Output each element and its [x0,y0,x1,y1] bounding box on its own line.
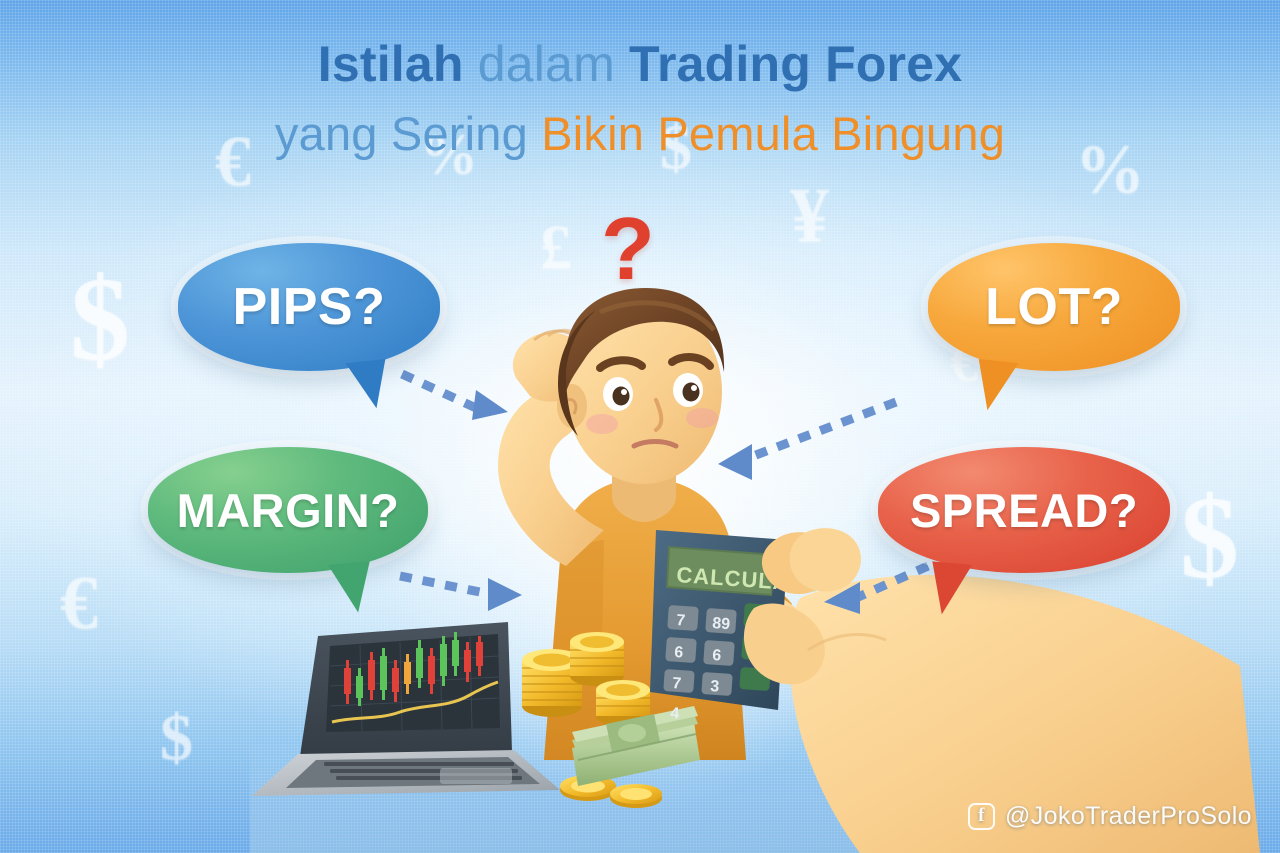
title-word-yang-sering: yang Sering [275,107,541,160]
watermark-handle: @JokoTraderProSolo [1005,802,1252,831]
title-word-dalam: dalam [464,36,629,92]
watermark[interactable]: f @JokoTraderProSolo [968,802,1252,831]
speech-bubble-margin-tail [328,561,374,614]
svg-text:6: 6 [674,644,684,662]
title-word-bikin-pemula-bingung: Bikin Pemula Bingung [541,107,1005,160]
facebook-icon: f [968,803,995,830]
speech-bubble-pips-tail [346,359,391,411]
title-word-trading-forex: Trading Forex [629,36,962,92]
svg-text:3: 3 [710,678,720,696]
speech-bubble-lot-label: LOT? [985,277,1123,337]
speech-bubble-spread-label: SPREAD? [910,483,1138,538]
speech-bubble-spread[interactable]: SPREAD? [878,447,1170,573]
question-mark-icon: ? [601,205,655,293]
speech-bubble-pips[interactable]: PIPS? [178,243,440,371]
dashed-arrow-spread-to-character [812,562,932,622]
speech-bubble-spread-tail [928,561,972,616]
svg-text:89: 89 [712,615,731,633]
svg-text:6: 6 [712,647,722,665]
poster-title: Istilah dalam Trading Forex yang Sering … [0,38,1280,158]
dashed-arrow-margin-to-character [398,566,528,616]
title-line-2: yang Sering Bikin Pemula Bingung [0,109,1280,158]
svg-text:4: 4 [670,705,680,723]
dashed-arrow-pips-to-character [398,368,518,428]
poster-canvas: $ € £ ¥ % $ € $ ¥ £ % $ € Istilah dalam … [0,0,1280,853]
svg-text:7: 7 [676,612,686,630]
dashed-arrow-lot-to-character [700,398,900,488]
title-word-istilah: Istilah [318,36,464,92]
speech-bubble-pips-label: PIPS? [233,277,386,337]
speech-bubble-margin[interactable]: MARGIN? [148,447,428,573]
svg-text:7: 7 [672,675,682,693]
speech-bubble-margin-label: MARGIN? [177,483,400,538]
title-line-1: Istilah dalam Trading Forex [0,38,1280,91]
speech-bubble-lot[interactable]: LOT? [928,243,1180,371]
speech-bubble-lot-tail [973,359,1018,413]
